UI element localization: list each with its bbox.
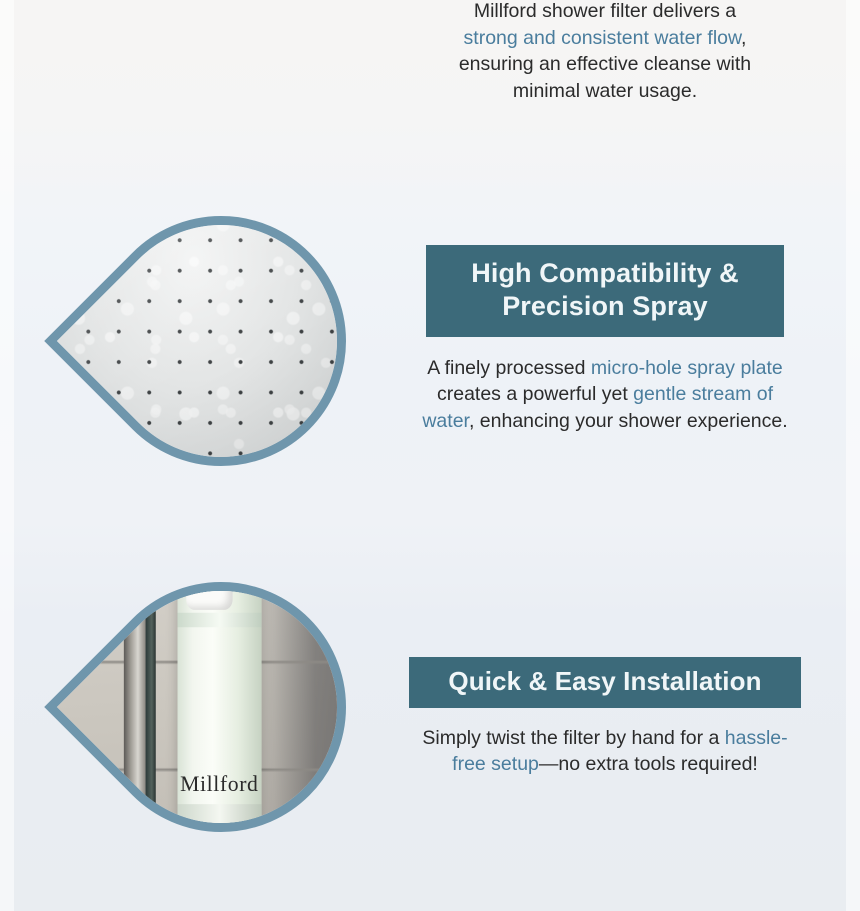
water-flow-line-3: ensuring an effective cleanse with xyxy=(459,53,751,75)
compatibility-body-part-0: A finely processed xyxy=(427,357,591,379)
section-water-flow: Millford shower filter delivers a strong… xyxy=(0,0,860,170)
water-flow-line-4: minimal water usage. xyxy=(513,80,697,102)
shower-pipe-shadow xyxy=(145,539,155,875)
filter-cap xyxy=(186,579,233,610)
infographic-page: Millford shower filter delivers a strong… xyxy=(0,0,860,911)
installation-text-column: Quick & Easy Installation Simply twist t… xyxy=(405,657,805,778)
plate-sheen-overlay xyxy=(53,173,389,509)
millford-filter-bottle: Millford xyxy=(177,579,261,835)
compatibility-body-part-4: , enhancing your shower experience. xyxy=(469,410,788,432)
water-flow-text-column: Millford shower filter delivers a strong… xyxy=(405,0,805,104)
filter-base xyxy=(177,804,261,835)
section-compatibility-spray: High Compatibility & Precision Spray A f… xyxy=(0,190,860,510)
filter-brand-label: Millford xyxy=(177,774,261,799)
filter-collar xyxy=(177,612,261,627)
compatibility-heading-line-2: Precision Spray xyxy=(502,291,708,321)
compatibility-heading-banner: High Compatibility & Precision Spray xyxy=(426,245,784,337)
green-triangle-pattern xyxy=(182,641,251,713)
water-flow-highlight-1: strong and consistent water flow xyxy=(464,27,742,49)
installed-filter-photo: Millford xyxy=(53,539,389,875)
installation-body-part-0: Simply twist the filter by hand for a xyxy=(422,727,724,749)
spray-plate-media xyxy=(76,196,348,486)
water-flow-body: Millford shower filter delivers a strong… xyxy=(405,0,805,104)
shower-running-media xyxy=(79,0,367,136)
installation-body-part-2: —no extra tools required! xyxy=(539,753,758,775)
compatibility-heading-line-1: High Compatibility & xyxy=(471,258,739,288)
water-flow-comma: , xyxy=(741,27,746,49)
installation-heading-banner: Quick & Easy Installation xyxy=(409,657,801,708)
installed-filter-media: Millford xyxy=(76,562,348,862)
installation-body: Simply twist the filter by hand for a ha… xyxy=(405,725,805,778)
compatibility-body: A finely processed micro-hole spray plat… xyxy=(405,355,805,435)
compatibility-body-part-2: creates a powerful yet xyxy=(437,383,633,405)
installation-heading-line-1: Quick & Easy Installation xyxy=(448,666,761,696)
installed-filter-photo-frame: Millford xyxy=(44,530,398,884)
section-easy-installation: Millford Quick & Easy Installation Simpl… xyxy=(0,556,860,876)
compatibility-text-column: High Compatibility & Precision Spray A f… xyxy=(405,245,805,434)
spray-plate-photo xyxy=(53,173,389,509)
spray-plate-photo-frame xyxy=(44,164,398,518)
water-flow-line-1: Millford shower filter delivers a xyxy=(474,0,736,22)
compatibility-body-highlight-1: micro-hole spray plate xyxy=(591,357,783,379)
